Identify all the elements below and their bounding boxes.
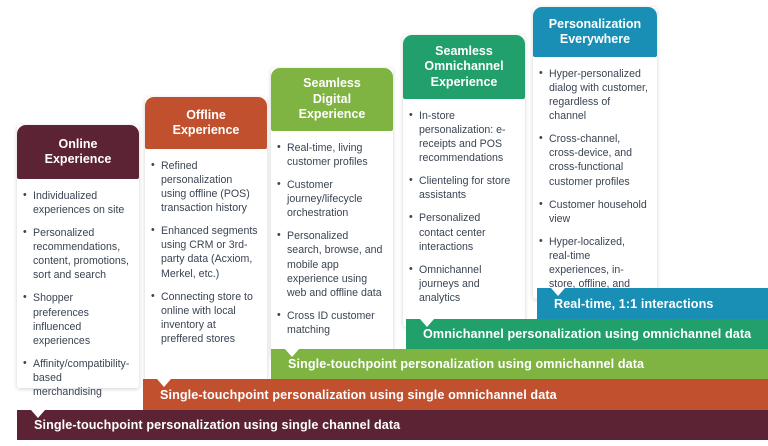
maturity-card-online-experience: Online Experience Individualized experie… (17, 125, 139, 388)
card-body-personalization-everywhere: Hyper-personalized dialog with customer,… (533, 57, 657, 322)
card-title-line-1: Seamless (303, 76, 361, 90)
bullet-list: Individualized experiences on site Perso… (23, 189, 131, 399)
card-body-online-experience: Individualized experiences on site Perso… (17, 179, 139, 416)
maturity-bar-single-touchpoint-single-channel: Single-touchpoint personalization using … (17, 410, 768, 440)
list-item: Affinity/compatibility-based merchandisi… (23, 357, 131, 399)
card-body-seamless-omnichannel-experience: In-store personalization: e-receipts and… (403, 99, 525, 322)
maturity-card-seamless-digital-experience: Seamless Digital Experience Real-time, l… (271, 68, 393, 358)
list-item: Customer household view (539, 198, 649, 226)
maturity-card-offline-experience: Offline Experience Refined personalizati… (145, 97, 267, 388)
maturity-card-seamless-omnichannel-experience: Seamless Omnichannel Experience In-store… (403, 35, 525, 327)
card-header-personalization-everywhere: Personalization Everywhere (533, 7, 657, 57)
list-item: Real-time, living customer profiles (277, 141, 385, 169)
card-title-line-2: Omnichannel (424, 59, 503, 73)
card-header-seamless-omnichannel-experience: Seamless Omnichannel Experience (403, 35, 525, 99)
list-item: Cross-channel, cross-device, and cross-f… (539, 132, 649, 188)
notch-marker-icon (31, 410, 45, 418)
bar-label: Single-touchpoint personalization using … (160, 388, 557, 402)
card-title-line-2: Everywhere (560, 32, 630, 46)
list-item: In-store personalization: e-receipts and… (409, 109, 517, 165)
notch-marker-icon (420, 319, 434, 327)
bullet-list: In-store personalization: e-receipts and… (409, 109, 517, 305)
maturity-bar-single-touchpoint-omnichannel: Single-touchpoint personalization using … (271, 349, 768, 379)
maturity-bar-single-touchpoint-single-omnichannel: Single-touchpoint personalization using … (143, 379, 768, 410)
maturity-bar-real-time-interactions: Real-time, 1:1 interactions (537, 288, 768, 319)
card-title-line-1: Online (59, 137, 98, 151)
card-body-seamless-digital-experience: Real-time, living customer profiles Cust… (271, 131, 393, 354)
list-item: Enhanced segments using CRM or 3rd-party… (151, 224, 259, 280)
card-header-online-experience: Online Experience (17, 125, 139, 179)
card-title-line-3: Experience (299, 107, 366, 121)
list-item: Personalized search, browse, and mobile … (277, 229, 385, 299)
list-item: Hyper-personalized dialog with customer,… (539, 67, 649, 123)
bar-label: Single-touchpoint personalization using … (288, 357, 644, 371)
card-title-line-3: Experience (431, 75, 498, 89)
notch-marker-icon (285, 349, 299, 357)
list-item: Omnichannel journeys and analytics (409, 263, 517, 305)
card-header-seamless-digital-experience: Seamless Digital Experience (271, 68, 393, 131)
list-item: Personalized recommendations, content, p… (23, 226, 131, 282)
card-title-line-1: Personalization (549, 17, 641, 31)
card-body-offline-experience: Refined personalization using offline (P… (145, 149, 267, 363)
bar-label: Real-time, 1:1 interactions (554, 297, 713, 311)
list-item: Individualized experiences on site (23, 189, 131, 217)
bullet-list: Real-time, living customer profiles Cust… (277, 141, 385, 337)
list-item: Refined personalization using offline (P… (151, 159, 259, 215)
infographic-canvas: Online Experience Individualized experie… (0, 0, 768, 446)
bar-label: Single-touchpoint personalization using … (34, 418, 400, 432)
notch-marker-icon (157, 379, 171, 387)
list-item: Cross ID customer matching (277, 309, 385, 337)
card-title-line-1: Seamless (435, 44, 493, 58)
list-item: Customer journey/lifecycle orchestration (277, 178, 385, 220)
card-title-line-2: Experience (45, 152, 112, 166)
card-title-line-2: Experience (173, 123, 240, 137)
card-header-offline-experience: Offline Experience (145, 97, 267, 149)
list-item: Connecting store to online with local in… (151, 290, 259, 346)
maturity-bar-omnichannel-personalization: Omnichannel personalization using omnich… (406, 319, 768, 349)
bar-label: Omnichannel personalization using omnich… (423, 327, 751, 341)
list-item: Personalized contact center interactions (409, 211, 517, 253)
bullet-list: Refined personalization using offline (P… (151, 159, 259, 346)
card-title-line-2: Digital (313, 92, 351, 106)
list-item: Clienteling for store assistants (409, 174, 517, 202)
list-item: Shopper preferences influenced experienc… (23, 291, 131, 347)
card-title-line-1: Offline (186, 108, 226, 122)
maturity-card-personalization-everywhere: Personalization Everywhere Hyper-persona… (533, 7, 657, 299)
notch-marker-icon (551, 288, 565, 296)
bullet-list: Hyper-personalized dialog with customer,… (539, 67, 649, 305)
